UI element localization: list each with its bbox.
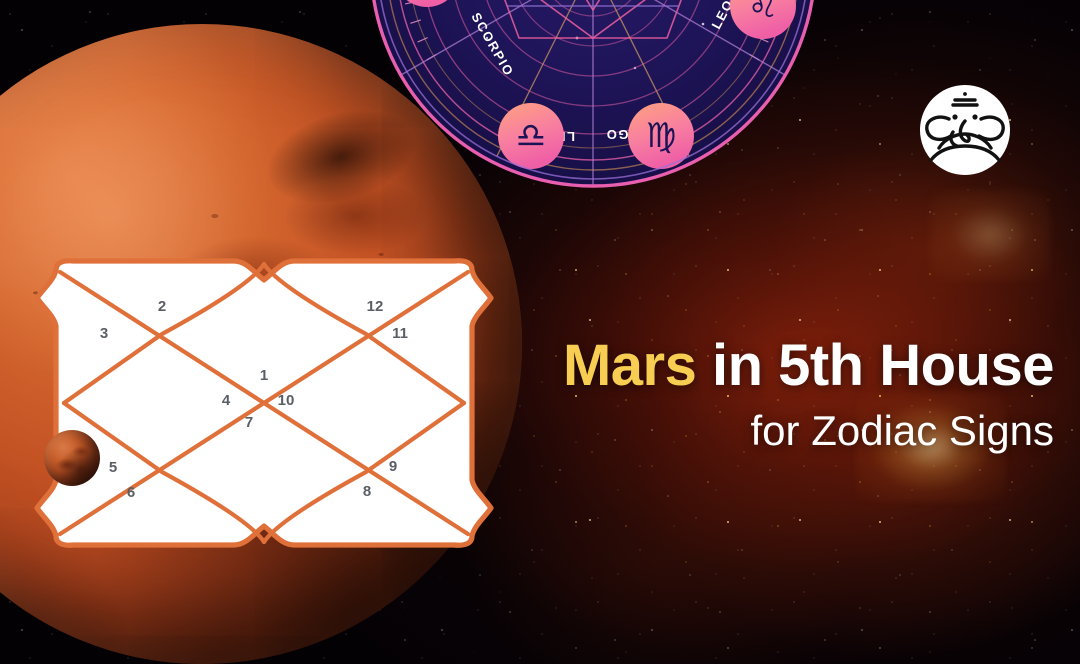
house-number-5: 5: [109, 459, 117, 476]
chart-planet-mars: [44, 430, 100, 486]
zodiac-badge-libra[interactable]: ♎: [498, 103, 564, 169]
title-accent-word: Mars: [563, 333, 696, 398]
page-subtitle: for Zodiac Signs: [506, 409, 1054, 453]
house-number-6: 6: [127, 484, 135, 501]
house-number-9: 9: [389, 458, 397, 475]
zodiac-wheel: SAGITTARIUS SCORPIO LIBRA VIRGO LEO CANC…: [367, 0, 819, 190]
house-number-1: 1: [260, 367, 268, 384]
zodiac-glyph-libra-icon: ♎: [516, 116, 546, 156]
zodiac-glyph-leo-icon: ♌: [748, 0, 778, 26]
north-indian-birth-chart: 1 2 3 4 5 6 7 8 9 10 11 12: [34, 258, 494, 548]
house-number-2: 2: [158, 298, 166, 315]
house-number-11: 11: [392, 325, 408, 342]
house-number-10: 10: [278, 392, 295, 409]
page-title: Mars in 5th House: [506, 336, 1054, 395]
zodiac-glyph-virgo-icon: ♍: [646, 116, 676, 156]
house-number-4: 4: [222, 392, 231, 409]
house-number-12: 12: [367, 298, 384, 315]
house-number-3: 3: [100, 325, 108, 342]
title-rest: in 5th House: [696, 333, 1054, 398]
ganesha-logo[interactable]: [909, 74, 1021, 186]
banner-root: SAGITTARIUS SCORPIO LIBRA VIRGO LEO CANC…: [0, 0, 1080, 664]
headline-block: Mars in 5th House for Zodiac Signs: [506, 336, 1054, 453]
house-number-8: 8: [363, 483, 371, 500]
house-number-7: 7: [245, 414, 253, 431]
